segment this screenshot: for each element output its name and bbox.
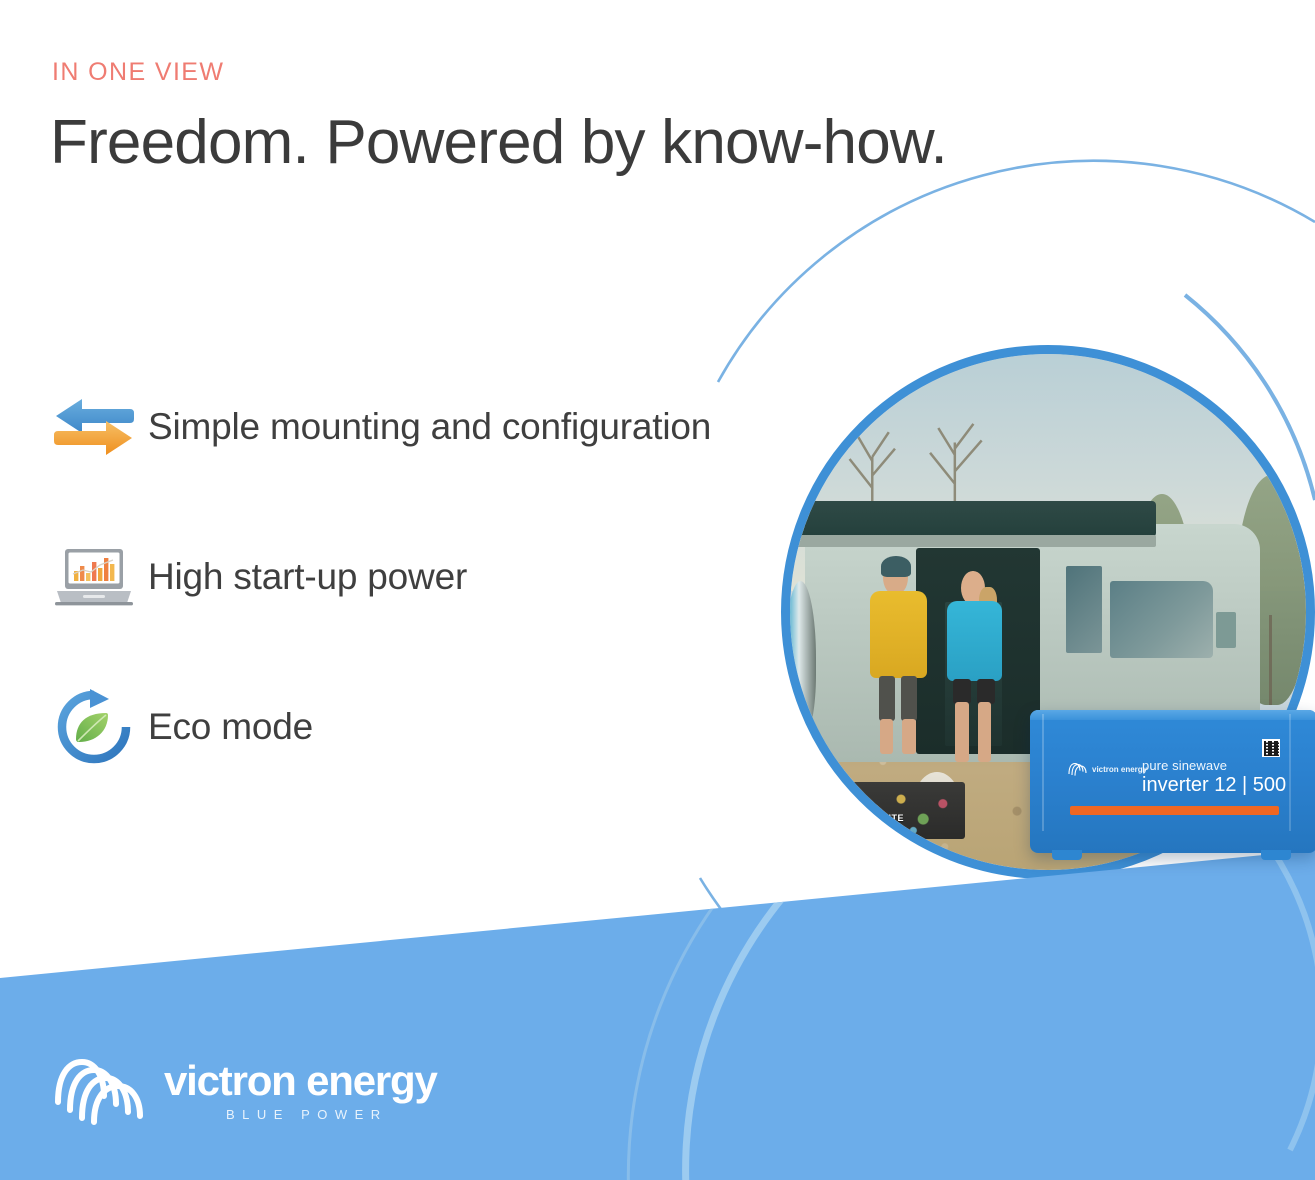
feature-label: Simple mounting and configuration bbox=[142, 406, 711, 448]
eyebrow-label: IN ONE VIEW bbox=[52, 58, 224, 87]
victron-wordmark: victron energy BLUE POWER bbox=[164, 1060, 437, 1122]
page-title: Freedom. Powered by know-how. bbox=[50, 108, 947, 177]
poster-canvas: IN ONE VIEW Freedom. Powered by know-how… bbox=[0, 0, 1315, 1180]
feature-icon-slot bbox=[46, 396, 142, 458]
feature-list: Simple mounting and configuration bbox=[46, 352, 866, 802]
victron-swirl-logo-icon bbox=[52, 1056, 146, 1126]
photo-van-window bbox=[1110, 581, 1213, 658]
product-inverter: victron energy pure sinewave inverter 12… bbox=[1030, 710, 1315, 853]
feature-item: Eco mode bbox=[46, 652, 866, 802]
swap-arrows-icon bbox=[52, 396, 136, 458]
inverter-model-line1: pure sinewave bbox=[1142, 758, 1286, 773]
logo-name: victron energy bbox=[164, 1060, 437, 1102]
feature-icon-slot bbox=[46, 547, 142, 607]
photo-van-mirror bbox=[1216, 612, 1237, 648]
photo-van-window-rear bbox=[1066, 566, 1102, 654]
inverter-top-bevel bbox=[1030, 710, 1315, 720]
photo-person-woman bbox=[945, 571, 1004, 772]
inverter-brand-name: victron energy bbox=[1092, 765, 1147, 774]
photo-person-man bbox=[867, 560, 929, 766]
inverter-mount-foot-right bbox=[1261, 850, 1291, 860]
inverter-model: pure sinewave inverter 12 | 500 bbox=[1142, 758, 1286, 797]
sticker-case-label: HYPERLITE bbox=[849, 813, 904, 823]
feature-item: Simple mounting and configuration bbox=[46, 352, 866, 502]
inverter-orange-stripe bbox=[1070, 806, 1279, 815]
inverter-edge-right bbox=[1289, 714, 1291, 831]
qr-code-icon bbox=[1262, 739, 1280, 757]
feature-label: Eco mode bbox=[142, 706, 313, 748]
feature-item: High start-up power bbox=[46, 502, 866, 652]
feature-label: High start-up power bbox=[142, 556, 467, 598]
inverter-model-line2: inverter 12 | 500 bbox=[1142, 774, 1286, 797]
logo-tagline: BLUE POWER bbox=[164, 1107, 437, 1122]
victron-swirl-logo-icon bbox=[1067, 762, 1087, 777]
inverter-edge-left bbox=[1042, 714, 1044, 831]
eco-leaf-cycle-icon bbox=[56, 689, 132, 765]
victron-footer-logo: victron energy BLUE POWER bbox=[52, 1056, 437, 1126]
bottom-blue-band bbox=[0, 850, 1315, 1180]
laptop-chart-icon bbox=[55, 547, 133, 607]
feature-icon-slot bbox=[46, 689, 142, 765]
inverter-mount-foot-left bbox=[1052, 850, 1082, 860]
inverter-brand-logo: victron energy bbox=[1067, 762, 1147, 777]
